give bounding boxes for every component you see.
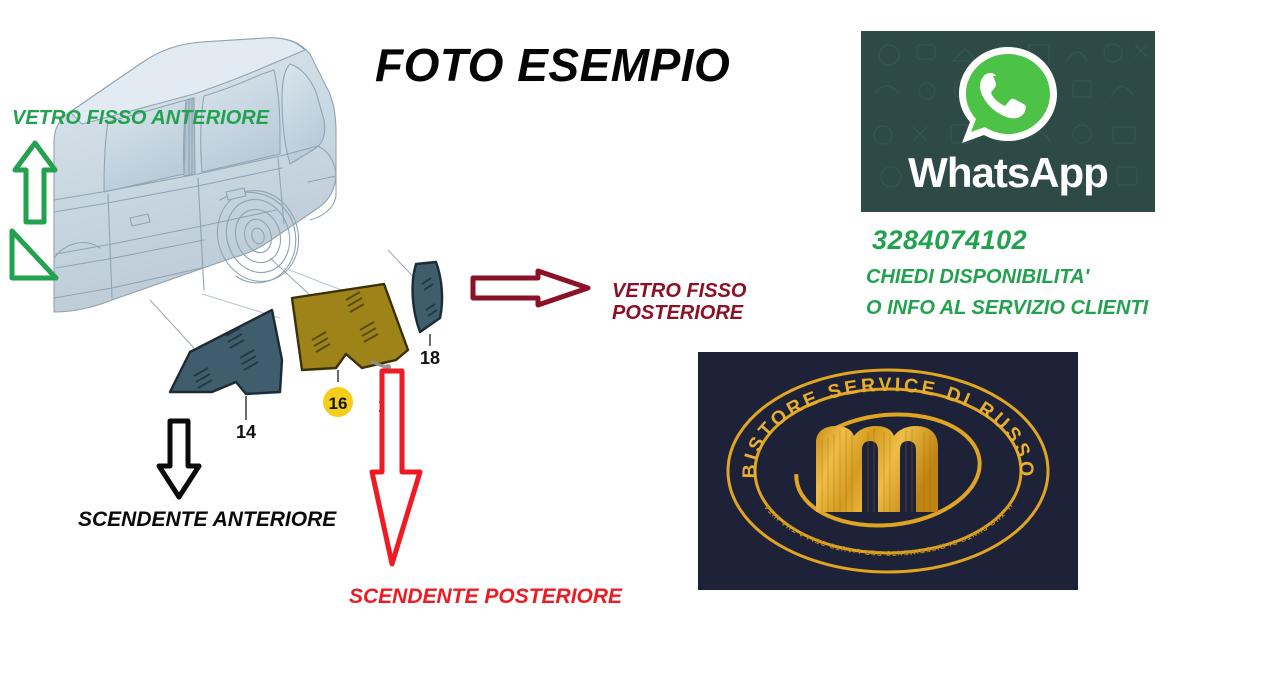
label-scendente-posteriore: SCENDENTE POSTERIORE <box>349 585 622 609</box>
part-18-glass: 18 <box>413 262 443 368</box>
part-number-17: 17 <box>378 396 398 416</box>
label-vetro-fisso-anteriore: VETRO FISSO ANTERIORE <box>12 107 269 129</box>
glass-parts-diagram: 14 16 17 <box>150 240 480 440</box>
logo-monogram <box>816 426 938 512</box>
phone-number[interactable]: 3284074102 <box>872 225 1027 256</box>
part-number-16: 16 <box>329 394 348 413</box>
whatsapp-banner: WhatsApp <box>861 31 1155 212</box>
page-title: FOTO ESEMPIO <box>375 38 730 92</box>
part-number-18: 18 <box>420 348 440 368</box>
dark-red-right-arrow <box>470 268 592 313</box>
label-vfp-line1: VETRO FISSO <box>612 280 746 302</box>
contact-line-1: CHIEDI DISPONIBILITA' <box>866 266 1089 289</box>
whatsapp-wordmark: WhatsApp <box>861 149 1155 197</box>
part-14-glass: 14 <box>170 310 282 440</box>
contact-line-2: O INFO AL SERVIZIO CLIENTI <box>866 297 1148 320</box>
shop-logo-banner: MRICAMBISTORE SERVICE DI RUSSO MARCO IL … <box>698 352 1078 590</box>
whatsapp-icon <box>952 43 1064 151</box>
part-17-rail: 17 <box>372 362 398 416</box>
screenshot-canvas: 14 16 17 <box>0 0 1264 678</box>
part-number-14: 14 <box>236 422 256 440</box>
label-vetro-fisso-posteriore: VETRO FISSO POSTERIORE <box>612 280 746 325</box>
label-vfp-line2: POSTERIORE <box>612 302 746 324</box>
label-scendente-anteriore: SCENDENTE ANTERIORE <box>78 508 336 532</box>
